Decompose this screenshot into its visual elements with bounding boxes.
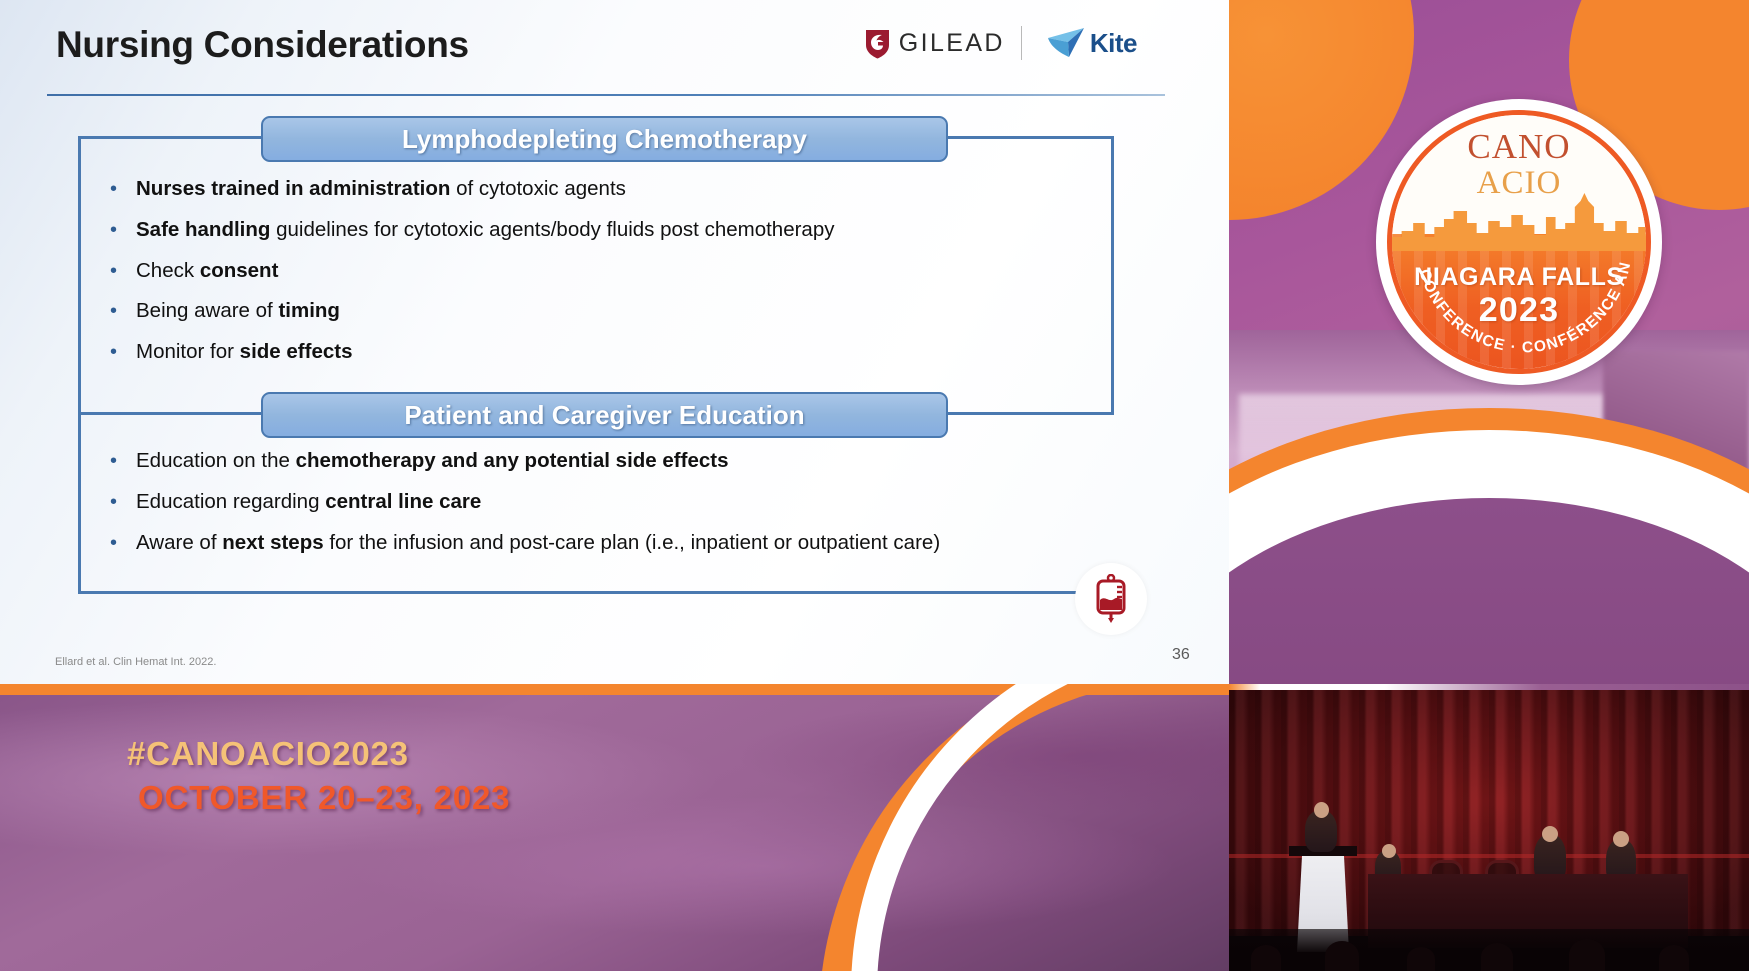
section-heading-education: Patient and Caregiver Education <box>261 392 948 438</box>
list-item-text: Monitor for side effects <box>136 337 352 368</box>
audience-head <box>1659 945 1689 971</box>
bullet-point-icon: • <box>106 296 136 326</box>
list-item: • Being aware of timing <box>106 296 834 327</box>
conference-artwork-panel: CANO ACIO NIAGARA FALLS 2023 ANNUAL CONF… <box>1229 0 1749 684</box>
list-item: • Check consent <box>106 256 834 287</box>
iv-bag-badge <box>1075 563 1147 635</box>
bullet-point-icon: • <box>106 337 136 367</box>
iv-bag-icon <box>1091 574 1131 624</box>
event-hashtag: #CANOACIO2023 <box>127 735 409 773</box>
kite-mark-icon <box>1038 27 1086 59</box>
frame-right-border <box>1111 136 1114 415</box>
svg-text:ANNUAL CONFERENCE · CONFÉRENCE: ANNUAL CONFERENCE · CONFÉRENCE ANNUELLE <box>1392 115 1635 356</box>
event-dates: OCTOBER 20–23, 2023 <box>138 779 510 817</box>
list-item-text: Aware of next steps for the infusion and… <box>136 528 940 559</box>
bullet-list-education: • Education on the chemotherapy and any … <box>106 446 940 568</box>
list-item-text: Check consent <box>136 256 278 287</box>
bullet-point-icon: • <box>106 215 136 245</box>
slide-page-number: 36 <box>1172 646 1190 664</box>
cano-acio-badge: CANO ACIO NIAGARA FALLS 2023 ANNUAL CONF… <box>1376 99 1662 385</box>
list-item: • Aware of next steps for the infusion a… <box>106 528 940 559</box>
event-banner-panel <box>0 684 1229 971</box>
speaker-video-feed[interactable] <box>1229 684 1749 971</box>
badge-inner-disc: CANO ACIO NIAGARA FALLS 2023 ANNUAL CONF… <box>1387 110 1651 374</box>
presentation-slide: Nursing Considerations GILEAD Kite <box>0 0 1229 684</box>
bullet-point-icon: • <box>106 446 136 476</box>
list-item-text: Nurses trained in administration of cyto… <box>136 174 626 205</box>
audience-head <box>1569 939 1605 971</box>
gilead-logo: GILEAD <box>865 28 1005 59</box>
citation-text: Ellard et al. Clin Hemat Int. 2022. <box>55 656 216 668</box>
panelist-head <box>1542 826 1558 842</box>
section-heading-chemotherapy: Lymphodepleting Chemotherapy <box>261 116 948 162</box>
bullet-list-chemotherapy: • Nurses trained in administration of cy… <box>106 174 834 378</box>
badge-arc-label: ANNUAL CONFERENCE · CONFÉRENCE ANNUELLE <box>1392 115 1635 356</box>
list-item-text: Safe handling guidelines for cytotoxic a… <box>136 215 834 246</box>
gilead-wordmark: GILEAD <box>899 29 1005 58</box>
audience-silhouette <box>1229 929 1749 971</box>
gilead-shield-icon <box>865 28 890 59</box>
content-frame: Lymphodepleting Chemotherapy Patient and… <box>78 136 1114 594</box>
audience-head <box>1325 941 1359 971</box>
list-item-text: Being aware of timing <box>136 296 340 327</box>
list-item-text: Education regarding central line care <box>136 487 481 518</box>
bullet-point-icon: • <box>106 528 136 558</box>
panelist-head <box>1613 831 1629 847</box>
kite-wordmark: Kite <box>1090 28 1137 59</box>
sponsor-logos: GILEAD Kite <box>865 26 1137 60</box>
list-item: • Safe handling guidelines for cytotoxic… <box>106 215 834 246</box>
audience-head <box>1481 943 1513 971</box>
frame-left-border <box>78 136 81 594</box>
audience-head <box>1407 947 1435 971</box>
badge-arc-text: ANNUAL CONFERENCE · CONFÉRENCE ANNUELLE <box>1392 115 1651 374</box>
list-item: • Education regarding central line care <box>106 487 940 518</box>
list-item: • Nurses trained in administration of cy… <box>106 174 834 205</box>
page-title: Nursing Considerations <box>56 24 469 66</box>
bullet-point-icon: • <box>106 174 136 204</box>
title-underline <box>47 94 1165 96</box>
panelist-head <box>1382 844 1396 858</box>
bullet-point-icon: • <box>106 256 136 286</box>
speaker-head <box>1314 802 1329 818</box>
list-item: • Education on the chemotherapy and any … <box>106 446 940 477</box>
list-item: • Monitor for side effects <box>106 337 834 368</box>
logo-divider <box>1021 26 1022 60</box>
list-item-text: Education on the chemotherapy and any po… <box>136 446 728 477</box>
kite-logo: Kite <box>1038 27 1137 59</box>
screen: Nursing Considerations GILEAD Kite <box>0 0 1749 971</box>
bullet-point-icon: • <box>106 487 136 517</box>
frame-bottom-border <box>78 591 1114 594</box>
audience-head <box>1251 945 1281 971</box>
